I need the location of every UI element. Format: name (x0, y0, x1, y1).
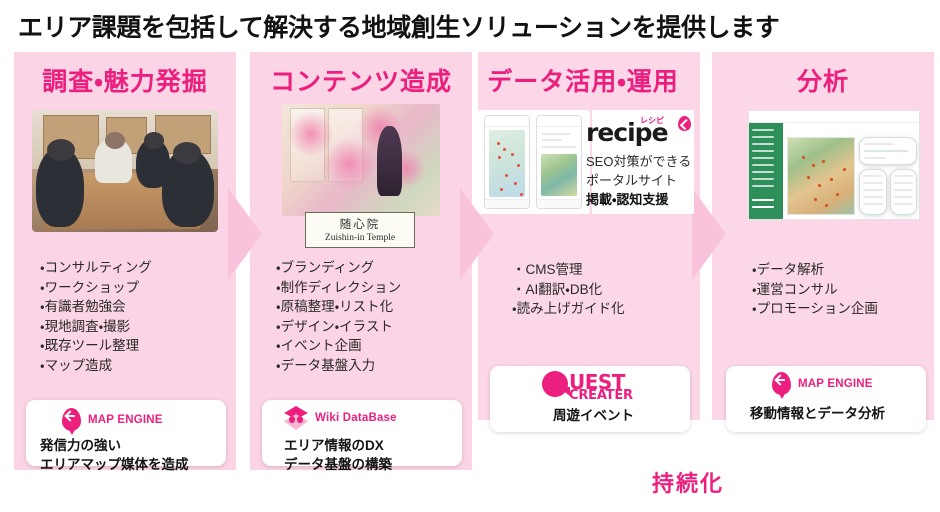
list-item: デザイン・イラスト (276, 317, 401, 337)
list-item: CMS管理 (512, 260, 625, 280)
list-item: データ基盤入力 (276, 356, 401, 376)
product-card-caption: 移動情報とデータ分析 (750, 404, 885, 423)
list-item: 読み上げガイド化 (512, 299, 625, 319)
map-engine-pin-icon (62, 408, 81, 431)
column-bullets-4: データ解析 運営コンサル プロモーション企画 (752, 260, 878, 319)
column-heading-3: データ活用・運用 (472, 62, 694, 98)
list-item: コンサルティング (40, 258, 152, 278)
list-item: データ解析 (752, 260, 878, 280)
product-card-quest-creater[interactable]: UEST CREATER 周遊イベント (490, 366, 690, 432)
media-kimono-illustration (282, 104, 440, 216)
list-item: 運営コンサル (752, 280, 878, 300)
product-card-map-engine-2[interactable]: MAP ENGINE 移動情報とデータ分析 (726, 366, 926, 432)
product-card-caption-line: 周遊イベント (553, 406, 634, 425)
column-panel-4 (712, 52, 934, 420)
product-card-logo-row: MAP ENGINE (62, 408, 163, 431)
trip-recipe-description: SEO対策ができる ポータルサイト 掲載・認知支援 (586, 152, 691, 209)
trip-recipe-logo-sub: レシピ (640, 115, 664, 126)
list-item: プロモーション企画 (752, 299, 878, 319)
product-card-caption-line: 移動情報とデータ分析 (750, 404, 885, 423)
map-engine-pin-icon (772, 372, 791, 395)
product-card-caption-line: データ基盤の構築 (284, 455, 392, 474)
column-bullets-2: ブランディング 制作ディレクション 原稿整理・リスト化 デザイン・イラスト イベ… (276, 258, 401, 375)
list-item: ブランディング (276, 258, 401, 278)
product-card-brand: MAP ENGINE (798, 378, 873, 390)
trip-recipe-line: ポータルサイト (586, 171, 691, 190)
temple-caption-en: Zuishin-in Temple (312, 233, 408, 243)
column-heading-4: 分析 (712, 62, 934, 98)
quest-creater-logo-icon: UEST CREATER (542, 371, 646, 405)
column-bullets-1: コンサルティング ワークショップ 有識者勉強会 現地調査・撮影 既存ツール整理 … (40, 258, 152, 375)
footer-note: 持続化 (652, 466, 724, 498)
media-analytics-dashboard (748, 110, 920, 220)
product-card-map-engine-1[interactable]: MAP ENGINE 発信力の強い エリアマップ媒体を造成 (26, 400, 226, 466)
product-card-caption-line: 発信力の強い (40, 436, 189, 455)
product-card-brand: MAP ENGINE (88, 414, 163, 426)
list-item: 原稿整理・リスト化 (276, 297, 401, 317)
slide-root: エリア課題を包括して解決する地域創生ソリューションを提供します 調査・魅力発掘 … (0, 0, 940, 512)
list-item: AI翻訳・DB化 (512, 280, 625, 300)
product-card-caption: エリア情報のDX データ基盤の構築 (284, 436, 392, 474)
trip-recipe-line: 掲載・認知支援 (586, 190, 691, 209)
quest-brand-sub: CREATER (569, 388, 633, 403)
trip-recipe-line: SEO対策ができる (586, 152, 691, 171)
temple-caption-jp: 随心院 (312, 216, 408, 232)
product-card-caption: 周遊イベント (553, 406, 634, 425)
column-heading-2: コンテンツ造成 (250, 62, 472, 98)
temple-caption: 随心院 Zuishin-in Temple (305, 212, 415, 248)
column-panel-3 (478, 52, 700, 420)
trip-recipe-logo: recipe レシピ (586, 118, 700, 150)
product-card-brand: Wiki DataBase (315, 412, 397, 424)
product-card-caption-line: エリアマップ媒体を造成 (40, 455, 189, 474)
list-item: 既存ツール整理 (40, 336, 152, 356)
product-card-caption: 発信力の強い エリアマップ媒体を造成 (40, 436, 189, 474)
list-item: 現地調査・撮影 (40, 317, 152, 337)
page-title: エリア課題を包括して解決する地域創生ソリューションを提供します (18, 8, 779, 44)
list-item: マップ造成 (40, 356, 152, 376)
trip-recipe-pin-icon (678, 116, 691, 131)
column-heading-1: 調査・魅力発掘 (14, 62, 236, 98)
list-item: ワークショップ (40, 278, 152, 298)
phone-mockup-article (536, 115, 582, 209)
product-card-logo-row: MAP ENGINE (772, 372, 873, 395)
media-workshop-photo (32, 110, 218, 232)
product-card-caption-line: エリア情報のDX (284, 436, 392, 455)
list-item: イベント企画 (276, 336, 401, 356)
media-phone-mockups (478, 110, 590, 214)
list-item: 有識者勉強会 (40, 297, 152, 317)
column-bullets-3: CMS管理 AI翻訳・DB化 読み上げガイド化 (512, 260, 625, 319)
list-item: 制作ディレクション (276, 278, 401, 298)
product-card-logo-row: UEST CREATER (542, 371, 646, 405)
wiki-database-diamond-icon (284, 406, 308, 430)
product-card-wiki-database[interactable]: Wiki DataBase エリア情報のDX データ基盤の構築 (262, 400, 462, 466)
phone-mockup-map (484, 115, 530, 209)
product-card-logo-row: Wiki DataBase (284, 406, 397, 430)
